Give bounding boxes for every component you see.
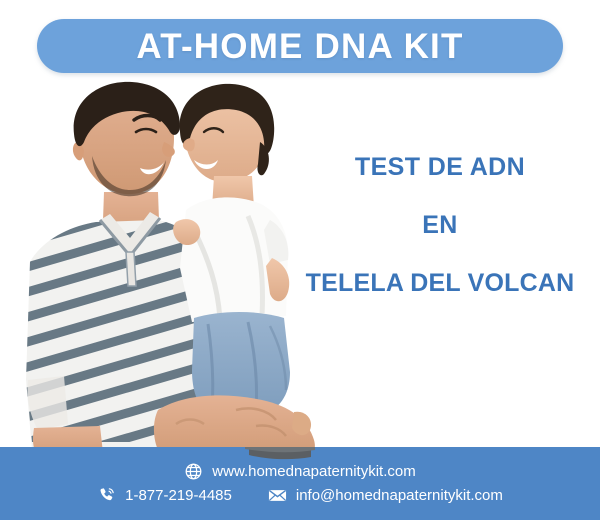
banner-title: AT-HOME DNA KIT <box>136 29 463 64</box>
header-banner: AT-HOME DNA KIT <box>37 19 563 73</box>
phone-text: 1-877-219-4485 <box>125 488 232 503</box>
footer-bar: www.homednapaternitykit.com 1-877-219-44… <box>0 447 600 520</box>
phone-item[interactable]: 1-877-219-4485 <box>97 486 232 505</box>
promo-card: AT-HOME DNA KIT <box>0 0 600 520</box>
envelope-icon <box>268 486 287 505</box>
email-item[interactable]: info@homednapaternitykit.com <box>268 486 503 505</box>
email-text: info@homednapaternitykit.com <box>296 488 503 503</box>
footer-row-website: www.homednapaternitykit.com <box>0 462 600 481</box>
globe-icon <box>184 462 203 481</box>
headline-line-3: TELELA DEL VOLCAN <box>300 271 580 296</box>
website-item[interactable]: www.homednapaternitykit.com <box>184 462 415 481</box>
headline-block: TEST DE ADN EN TELELA DEL VOLCAN <box>300 155 580 296</box>
phone-ringing-icon <box>97 486 116 505</box>
website-text: www.homednapaternitykit.com <box>212 464 415 479</box>
footer-contact-rows: www.homednapaternitykit.com 1-877-219-44… <box>0 447 600 520</box>
headline-line-1: TEST DE ADN <box>300 155 580 180</box>
footer-row-phone-email: 1-877-219-4485 info@homednapaternitykit.… <box>0 486 600 505</box>
headline-line-2: EN <box>300 213 580 238</box>
family-photo <box>8 80 330 462</box>
